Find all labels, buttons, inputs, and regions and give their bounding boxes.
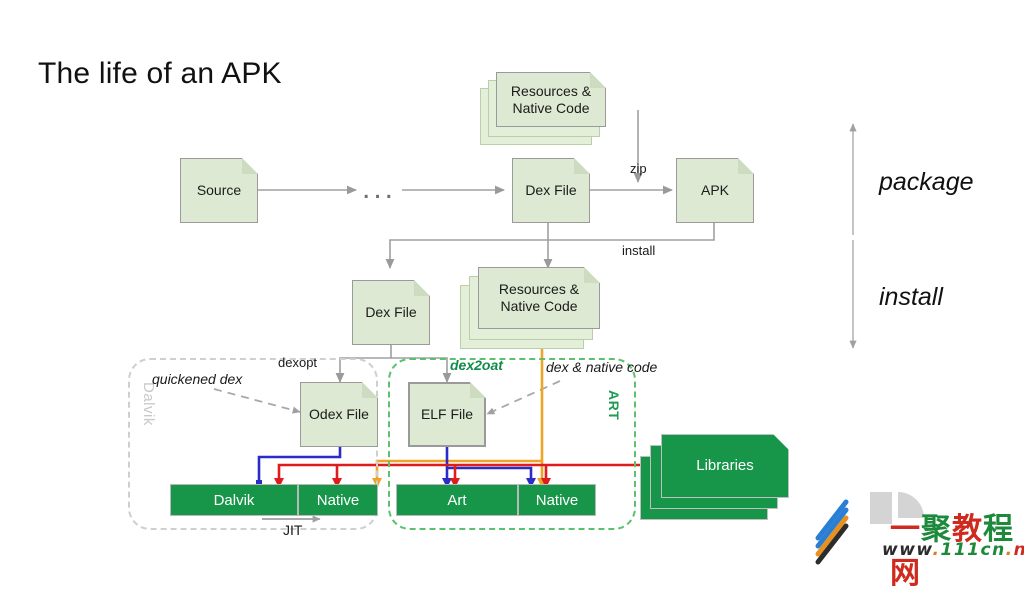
page-title: The life of an APK [38, 57, 282, 91]
folded-corner-icon [242, 158, 258, 174]
bar-dalvik-label: Dalvik [214, 492, 255, 509]
folded-corner-icon [574, 158, 590, 174]
bar-art-label: Art [447, 492, 466, 509]
node-libraries[interactable]: Libraries [640, 432, 780, 520]
wm-url-dot2: . [1006, 540, 1014, 560]
folded-corner-icon [738, 158, 754, 174]
phase-label-install: install [879, 283, 943, 312]
ellipsis-label: ... [362, 172, 396, 206]
wm-url-1: www [882, 540, 933, 560]
wm-url-dot1: . [933, 540, 941, 560]
bar-art[interactable]: Art [396, 484, 518, 516]
dalvik-zone-label: Dalvik [140, 382, 157, 426]
wm-ch-5: 网 [890, 556, 921, 591]
node-elf-file[interactable]: ELF File [408, 382, 486, 447]
node-apk[interactable]: APK [676, 158, 754, 223]
node-apk-label: APK [697, 182, 733, 199]
node-resources-native-code-top[interactable]: Resources & Native Code [496, 72, 606, 127]
folded-corner-icon [414, 280, 430, 296]
folded-corner-icon [470, 382, 486, 398]
node-resources-native-code-mid-label: Resources & Native Code [478, 281, 600, 314]
node-libraries-label: Libraries [680, 457, 770, 474]
watermark-url-text: www.111cn.net [882, 540, 1024, 560]
bar-dalvik[interactable]: Dalvik [170, 484, 298, 516]
bar-dalvik-native[interactable]: Native [298, 484, 378, 516]
node-dex-file-top[interactable]: Dex File [512, 158, 590, 223]
edge-label-dex-and-native-code: dex & native code [546, 359, 657, 375]
edge-label-dex2oat: dex2oat [450, 357, 503, 373]
watermark: 一聚教程网 www.111cn.net [812, 486, 1020, 570]
art-zone-label: ART [606, 390, 622, 420]
bar-dalvik-native-label: Native [317, 492, 360, 509]
wm-url-2: 111cn [941, 540, 1006, 560]
node-dex-file-mid[interactable]: Dex File [352, 280, 430, 345]
bar-art-native[interactable]: Native [518, 484, 596, 516]
edge-label-install: install [622, 243, 655, 258]
node-dex-file-mid-label: Dex File [361, 304, 420, 321]
node-source[interactable]: Source [180, 158, 258, 223]
bar-art-native-label: Native [536, 492, 579, 509]
node-odex-file[interactable]: Odex File [300, 382, 378, 447]
edge-label-zip: zip [630, 161, 647, 176]
diagram-canvas: The life of an APK Dalvik ART Source ...… [0, 0, 1024, 576]
node-resources-native-code-top-label: Resources & Native Code [496, 83, 606, 116]
edge-label-dexopt: dexopt [278, 355, 317, 370]
node-resources-native-code-mid[interactable]: Resources & Native Code [478, 267, 600, 329]
phase-label-package: package [879, 168, 974, 197]
node-source-label: Source [193, 182, 245, 199]
node-dex-file-top-label: Dex File [521, 182, 580, 199]
node-odex-file-label: Odex File [305, 406, 373, 423]
node-elf-file-label: ELF File [417, 406, 477, 423]
edge-label-jit: JIT [283, 522, 302, 538]
wm-url-3: net [1014, 540, 1024, 560]
edge-label-quickened-dex: quickened dex [152, 371, 242, 387]
folded-corner-icon [362, 382, 378, 398]
